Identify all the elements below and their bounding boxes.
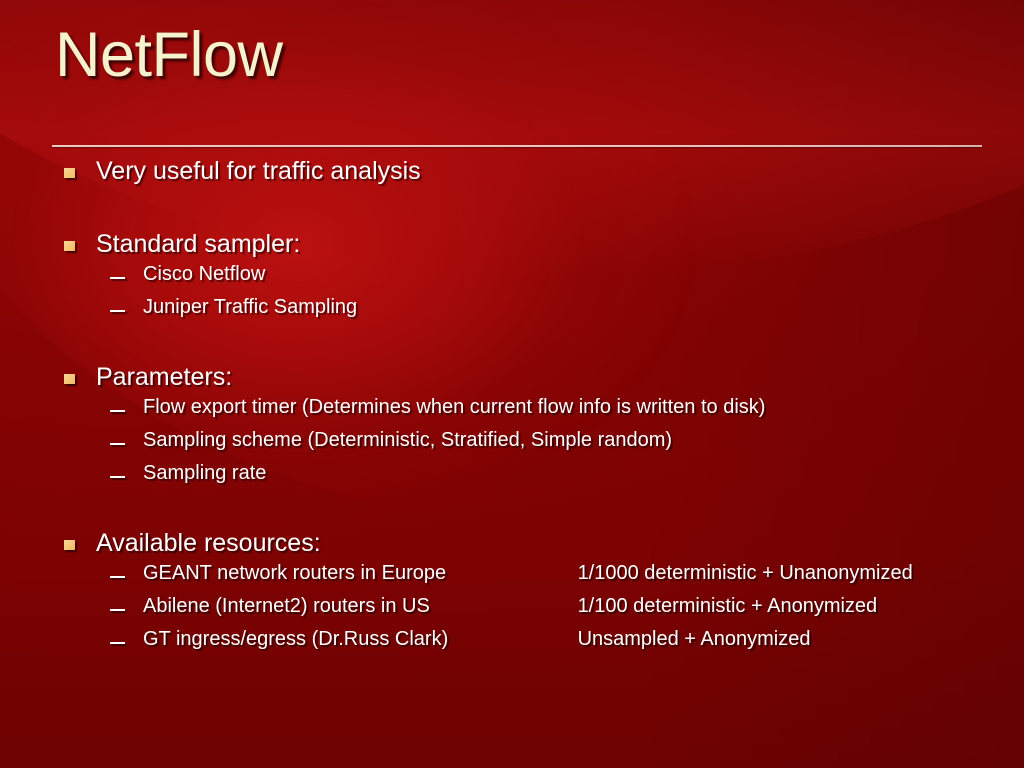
bullet-intro: Very useful for traffic analysis	[0, 157, 1024, 190]
bullet-parameters-label: Parameters:	[96, 363, 232, 391]
section-available-resources: Available resources: GEANT network route…	[0, 529, 1024, 661]
resource-detail: 1/100 deterministic + Anonymized	[578, 595, 878, 618]
sub-bullet-juniper-traffic-sampling: Juniper Traffic Sampling	[0, 296, 1024, 329]
section-intro: Very useful for traffic analysis	[0, 157, 1024, 190]
bullet-standard-sampler-label: Standard sampler:	[96, 230, 300, 258]
resource-name: GEANT network routers in Europe	[143, 562, 572, 585]
resource-detail: 1/1000 deterministic + Unanonymized	[578, 562, 913, 585]
sub-bullet-label: Flow export timer (Determines when curre…	[143, 396, 765, 418]
slide-body: Very useful for traffic analysis Standar…	[0, 157, 1024, 661]
resource-name: Abilene (Internet2) routers in US	[143, 595, 572, 618]
sub-bullet-label: Cisco Netflow	[143, 263, 265, 285]
resource-detail: Unsampled + Anonymized	[578, 628, 811, 651]
spacer	[0, 329, 1024, 363]
bullet-standard-sampler: Standard sampler:	[0, 230, 1024, 263]
resource-row: GT ingress/egress (Dr.Russ Clark) Unsamp…	[0, 628, 1024, 661]
sub-bullet-label: Juniper Traffic Sampling	[143, 296, 357, 318]
dash-bullet-icon	[110, 443, 125, 445]
dash-bullet-icon	[110, 609, 125, 611]
section-parameters: Parameters: Flow export timer (Determine…	[0, 363, 1024, 495]
dash-bullet-icon	[110, 277, 125, 279]
slide: NetFlow Very useful for traffic analysis…	[0, 0, 1024, 768]
bullet-parameters: Parameters:	[0, 363, 1024, 396]
dash-bullet-icon	[110, 642, 125, 644]
resource-row: GEANT network routers in Europe 1/1000 d…	[0, 562, 1024, 595]
resource-name: GT ingress/egress (Dr.Russ Clark)	[143, 628, 572, 651]
sub-bullet-sampling-scheme: Sampling scheme (Deterministic, Stratifi…	[0, 429, 1024, 462]
section-standard-sampler: Standard sampler: Cisco Netflow Juniper …	[0, 230, 1024, 329]
bullet-intro-label: Very useful for traffic analysis	[96, 157, 421, 185]
dash-bullet-icon	[110, 576, 125, 578]
square-bullet-icon	[64, 374, 75, 384]
sub-bullet-label: Sampling rate	[143, 462, 266, 484]
dash-bullet-icon	[110, 410, 125, 412]
slide-title: NetFlow	[55, 24, 283, 87]
sub-bullet-label: Sampling scheme (Deterministic, Stratifi…	[143, 429, 672, 451]
bullet-available-resources: Available resources:	[0, 529, 1024, 562]
square-bullet-icon	[64, 540, 75, 550]
dash-bullet-icon	[110, 476, 125, 478]
bullet-available-resources-label: Available resources:	[96, 529, 321, 557]
resource-row: Abilene (Internet2) routers in US 1/100 …	[0, 595, 1024, 628]
dash-bullet-icon	[110, 310, 125, 312]
spacer	[0, 495, 1024, 529]
square-bullet-icon	[64, 168, 75, 178]
sub-bullet-flow-export-timer: Flow export timer (Determines when curre…	[0, 396, 1024, 429]
sub-bullet-cisco-netflow: Cisco Netflow	[0, 263, 1024, 296]
square-bullet-icon	[64, 241, 75, 251]
spacer	[0, 190, 1024, 230]
title-divider	[52, 145, 982, 147]
sub-bullet-sampling-rate: Sampling rate	[0, 462, 1024, 495]
